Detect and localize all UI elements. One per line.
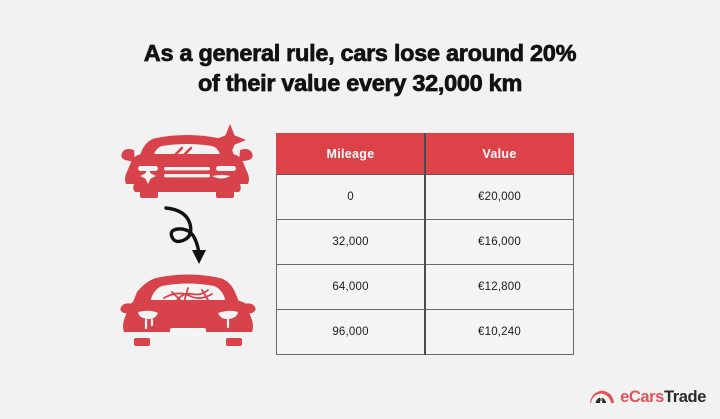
- depreciation-table: Mileage Value 0 €20,000 32,000 €16,000 6…: [276, 133, 574, 341]
- car-arch-icon: [589, 389, 615, 405]
- cell-mileage: 96,000: [277, 310, 426, 355]
- logo-text-ecars: eCars: [620, 388, 664, 406]
- table-row: 0 €20,000: [277, 175, 574, 220]
- damaged-old-car-icon: [116, 268, 260, 346]
- column-header-mileage: Mileage: [277, 134, 426, 175]
- cell-mileage: 64,000: [277, 265, 426, 310]
- column-header-value: Value: [425, 134, 574, 175]
- table-row: 32,000 €16,000: [277, 220, 574, 265]
- logo-text-trade: Trade: [664, 388, 706, 406]
- cell-value: €10,240: [425, 310, 574, 355]
- table-row: 64,000 €12,800: [277, 265, 574, 310]
- cell-value: €16,000: [425, 220, 574, 265]
- table-header-row: Mileage Value: [277, 134, 574, 175]
- cell-value: €20,000: [425, 175, 574, 220]
- shiny-new-car-icon: [112, 122, 262, 202]
- curly-down-arrow-icon: [140, 204, 232, 266]
- logo-wordmark: eCarsTrade: [620, 389, 706, 406]
- page-title: As a general rule, cars lose around 20% …: [60, 38, 660, 98]
- cell-mileage: 32,000: [277, 220, 426, 265]
- title-line-1: As a general rule, cars lose around 20%: [60, 38, 660, 68]
- brand-logo: eCarsTrade: [589, 389, 706, 406]
- illustration-column: [112, 122, 262, 347]
- cell-mileage: 0: [277, 175, 426, 220]
- title-line-2: of their value every 32,000 km: [60, 68, 660, 98]
- infographic-canvas: As a general rule, cars lose around 20% …: [0, 0, 720, 419]
- table-row: 96,000 €10,240: [277, 310, 574, 355]
- cell-value: €12,800: [425, 265, 574, 310]
